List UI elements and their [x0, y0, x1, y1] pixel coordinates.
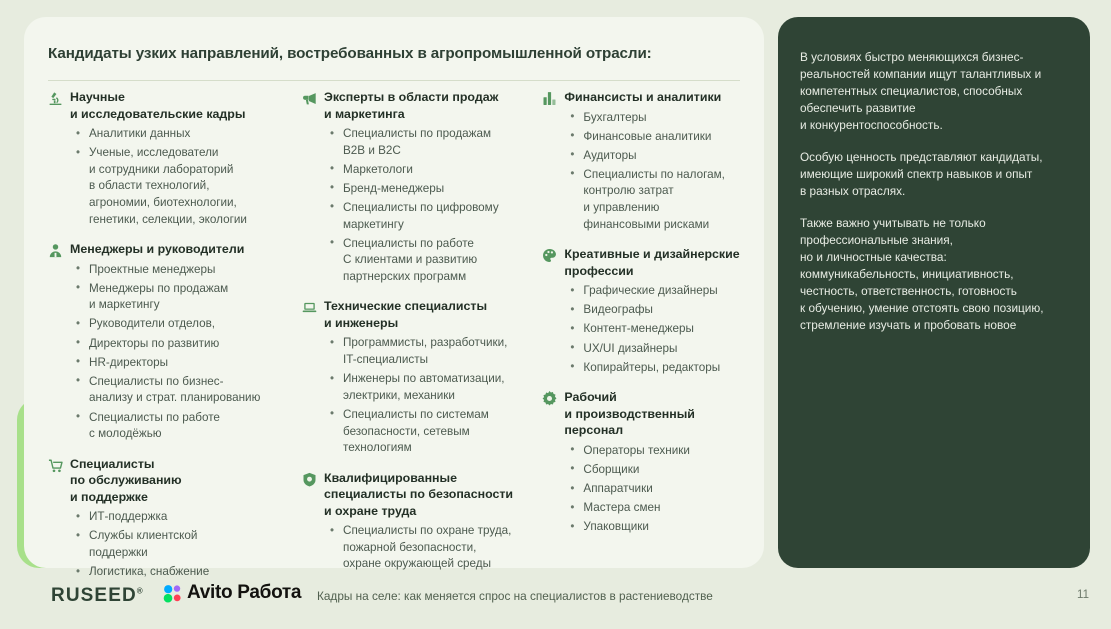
column-1: Научные и исследовательские кадрыАналити… [48, 89, 302, 558]
category-group: Квалифицированные специалисты по безопас… [302, 470, 542, 573]
category-title: Специалисты по обслуживанию и поддержке [70, 456, 302, 506]
avito-logo: Avito Работа [163, 582, 301, 604]
list-item: Упаковщики [564, 519, 746, 536]
category-items: ИТ-поддержкаСлужбы клиентской поддержкиЛ… [70, 509, 302, 580]
category-items: Графические дизайнерыВидеографыКонтент-м… [564, 283, 746, 376]
category-group: Научные и исследовательские кадрыАналити… [48, 89, 302, 228]
ruseed-logo-text: RUSEED [51, 585, 137, 606]
title-divider [48, 80, 740, 81]
footer-caption: Кадры на селе: как меняется спрос на спе… [317, 589, 713, 603]
avito-dots-icon [163, 584, 182, 603]
category-group: Менеджеры и руководителиПроектные менедж… [48, 241, 302, 443]
list-item: UX/UI дизайнеры [564, 341, 746, 358]
list-item: Ученые, исследователи и сотрудники лабор… [70, 145, 302, 228]
columns-container: Научные и исследовательские кадрыАналити… [48, 89, 746, 558]
list-item: Директоры по развитию [70, 336, 302, 353]
category-title: Менеджеры и руководители [70, 241, 302, 258]
finance-chart-icon [542, 91, 558, 107]
list-item: Специалисты по работе С клиентами и разв… [324, 236, 542, 286]
category-group: Финансисты и аналитикиБухгалтерыФинансов… [542, 89, 746, 233]
list-item: Операторы техники [564, 443, 746, 460]
list-item: Финансовые аналитики [564, 129, 746, 146]
footer: RUSEED® Avito Работа Кадры на селе: как … [0, 572, 1111, 629]
category-title: Рабочий и производственный персонал [564, 389, 746, 439]
avito-logo-text: Avito Работа [187, 582, 301, 604]
list-item: Копирайтеры, редакторы [564, 360, 746, 377]
list-item: Специалисты по системам безопасности, се… [324, 407, 542, 457]
category-items: Аналитики данныхУченые, исследователи и … [70, 126, 302, 228]
list-item: Программисты, разработчики, IT-специалис… [324, 335, 542, 368]
list-item: Маркетологи [324, 162, 542, 179]
list-item: Аналитики данных [70, 126, 302, 143]
list-item: Специалисты по налогам, контролю затрат … [564, 167, 746, 233]
shield-icon [302, 472, 318, 488]
summary-paragraph: Особую ценность представляют кандидаты, … [800, 149, 1066, 200]
ruseed-logo: RUSEED® [51, 585, 143, 607]
list-item: Сборщики [564, 462, 746, 479]
candidates-card: Кандидаты узких направлений, востребован… [24, 17, 764, 568]
list-item: Специалисты по охране труда, пожарной бе… [324, 523, 542, 573]
list-item: Специалисты по работе с молодёжью [70, 410, 302, 443]
list-item: ИТ-поддержка [70, 509, 302, 526]
page-number: 11 [1077, 589, 1089, 601]
list-item: Контент-менеджеры [564, 321, 746, 338]
list-item: HR-директоры [70, 355, 302, 372]
laptop-icon [302, 300, 318, 316]
category-title: Эксперты в области продаж и маркетинга [324, 89, 542, 122]
category-title: Квалифицированные специалисты по безопас… [324, 470, 542, 520]
page-title: Кандидаты узких направлений, востребован… [48, 45, 740, 62]
category-items: Проектные менеджерыМенеджеры по продажам… [70, 262, 302, 443]
summary-panel: В условиях быстро меняющихся бизнес-реал… [778, 17, 1090, 568]
palette-icon [542, 248, 558, 264]
category-items: Программисты, разработчики, IT-специалис… [324, 335, 542, 456]
slide-root: Кандидаты узких направлений, востребован… [0, 0, 1111, 629]
list-item: Менеджеры по продажам и маркетингу [70, 281, 302, 314]
category-items: Операторы техникиСборщикиАппаратчикиМаст… [564, 443, 746, 536]
category-items: БухгалтерыФинансовые аналитикиАудиторыСп… [564, 110, 746, 234]
category-title: Финансисты и аналитики [564, 89, 746, 106]
registered-mark: ® [137, 587, 143, 596]
megaphone-icon [302, 91, 318, 107]
category-group: Креативные и дизайнерские профессииГрафи… [542, 246, 746, 376]
category-group: Рабочий и производственный персоналОпера… [542, 389, 746, 536]
list-item: Специалисты по цифровому маркетингу [324, 200, 542, 233]
category-title: Научные и исследовательские кадры [70, 89, 302, 122]
column-3: Финансисты и аналитикиБухгалтерыФинансов… [542, 89, 746, 558]
category-group: Технические специалисты и инженерыПрогра… [302, 298, 542, 456]
list-item: Специалисты по бизнес- анализу и страт. … [70, 374, 302, 407]
category-title: Технические специалисты и инженеры [324, 298, 542, 331]
microscope-icon [48, 91, 64, 107]
column-2: Эксперты в области продаж и маркетингаСп… [302, 89, 542, 558]
list-item: Аппаратчики [564, 481, 746, 498]
category-items: Специалисты по охране труда, пожарной бе… [324, 523, 542, 573]
list-item: Бренд-менеджеры [324, 181, 542, 198]
category-title: Креативные и дизайнерские профессии [564, 246, 746, 279]
list-item: Бухгалтеры [564, 110, 746, 127]
list-item: Проектные менеджеры [70, 262, 302, 279]
list-item: Специалисты по продажам B2B и B2C [324, 126, 542, 159]
person-manager-icon [48, 243, 64, 259]
category-group: Специалисты по обслуживанию и поддержкеИ… [48, 456, 302, 581]
gear-icon [542, 391, 558, 407]
list-item: Службы клиентской поддержки [70, 528, 302, 561]
summary-paragraph: Также важно учитывать не только професси… [800, 215, 1066, 334]
support-cart-icon [48, 458, 64, 474]
list-item: Аудиторы [564, 148, 746, 165]
list-item: Мастера смен [564, 500, 746, 517]
list-item: Графические дизайнеры [564, 283, 746, 300]
category-group: Эксперты в области продаж и маркетингаСп… [302, 89, 542, 285]
list-item: Инженеры по автоматизации, электрики, ме… [324, 371, 542, 404]
list-item: Видеографы [564, 302, 746, 319]
list-item: Руководители отделов, [70, 316, 302, 333]
category-items: Специалисты по продажам B2B и B2CМаркето… [324, 126, 542, 285]
summary-paragraph: В условиях быстро меняющихся бизнес-реал… [800, 49, 1066, 134]
